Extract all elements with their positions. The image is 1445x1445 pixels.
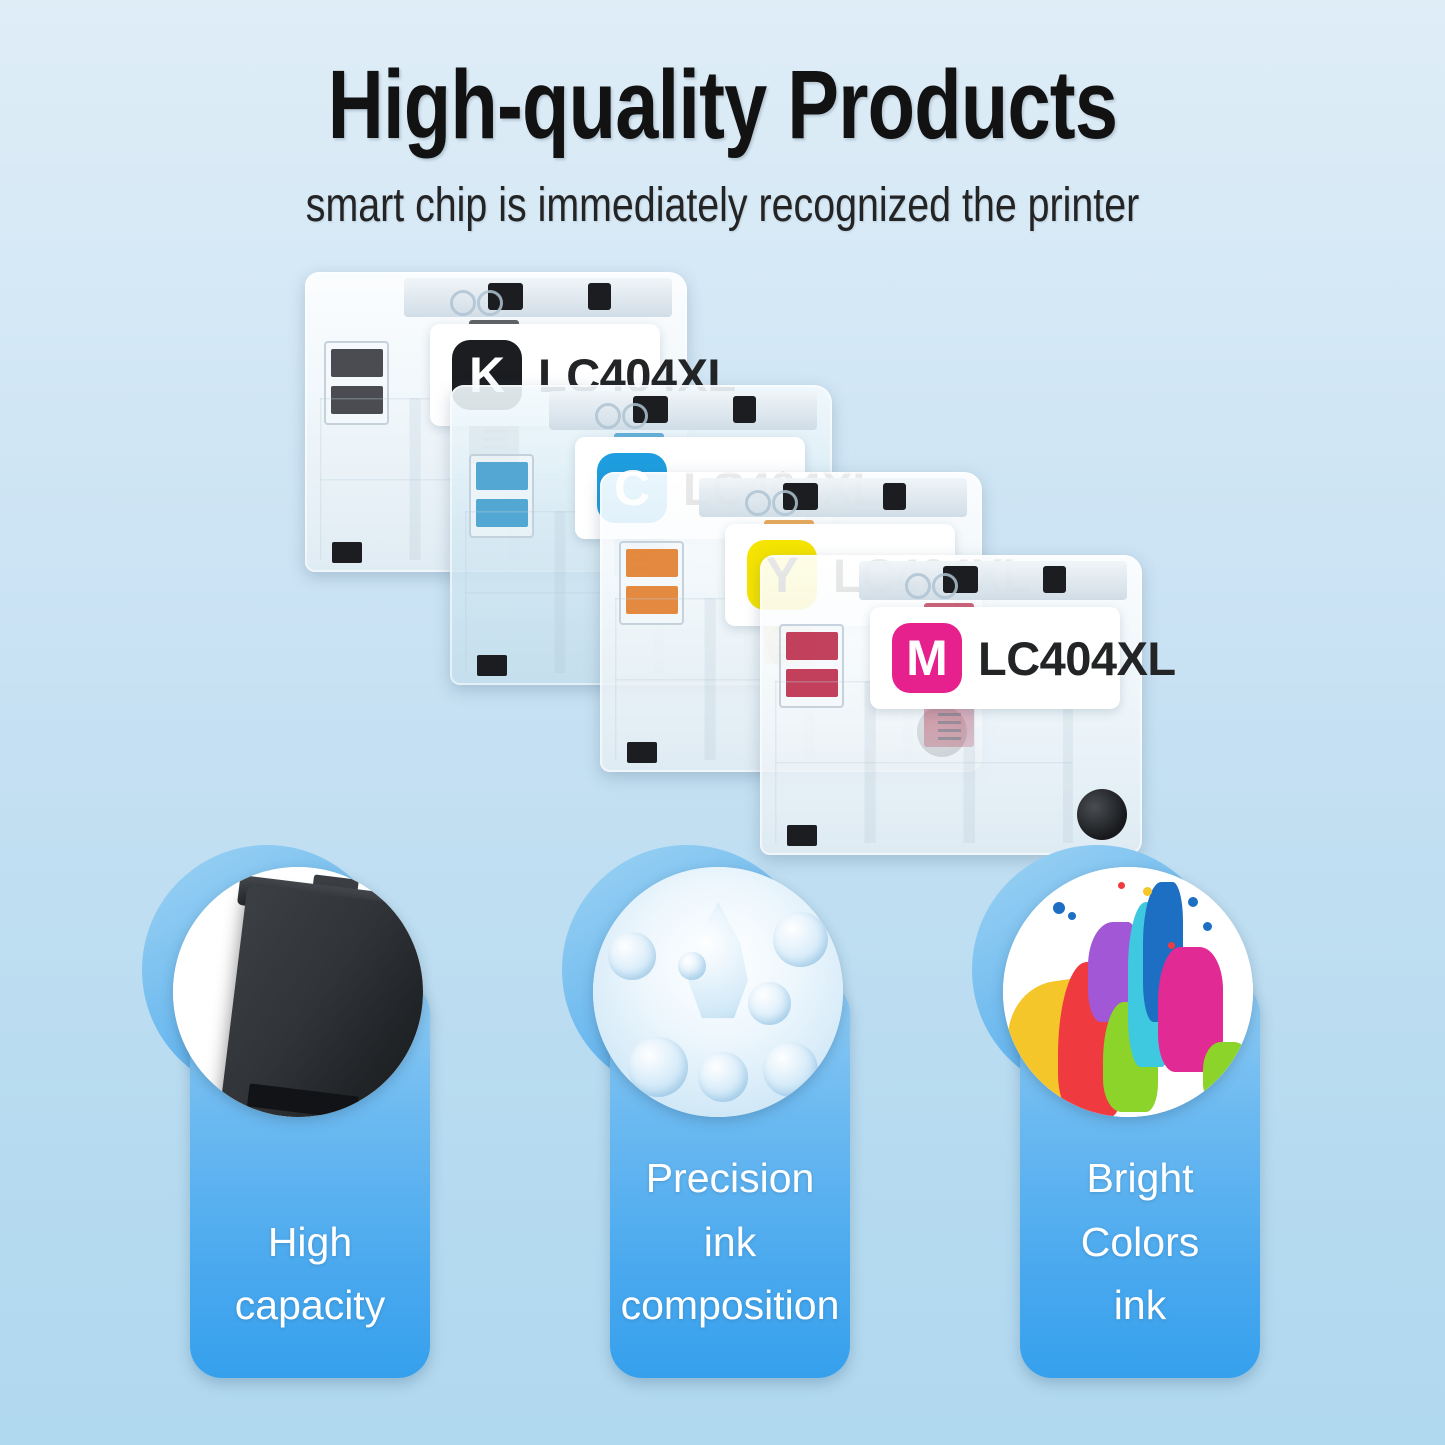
- feature-line: ink: [610, 1211, 850, 1275]
- cartridge-port: [932, 573, 958, 599]
- black-cartridge-photo-icon: [173, 867, 423, 1117]
- cartridge-port: [477, 290, 503, 316]
- cartridge-port: [745, 490, 771, 516]
- cartridge-port: [772, 490, 798, 516]
- cartridge-foot: [787, 825, 818, 846]
- cartridge-rail: [404, 278, 671, 317]
- feature-text: High capacity: [190, 1211, 430, 1338]
- cartridge-rail: [859, 561, 1126, 600]
- cartridge-magenta: M LC404XL: [760, 555, 1142, 855]
- paint-splash-photo-icon: [1003, 867, 1253, 1117]
- cartridge-foot: [627, 742, 658, 763]
- cartridge-port: [450, 290, 476, 316]
- page-subtitle: smart chip is immediately recognized the…: [130, 153, 1315, 230]
- feature-line: ink: [1020, 1274, 1260, 1338]
- cartridge-nub: [733, 396, 756, 423]
- cartridge-nub: [883, 483, 906, 510]
- color-badge-m: M: [892, 623, 962, 693]
- cartridge-nub: [1043, 566, 1066, 593]
- feature-text: Bright Colors ink: [1020, 1147, 1260, 1338]
- cartridge-port: [622, 403, 648, 429]
- feature-line: High: [190, 1211, 430, 1275]
- cartridge-showcase: K LC404XL C LC404XL: [0, 250, 1445, 810]
- cartridge-label-magenta: M LC404XL: [870, 607, 1120, 709]
- water-droplet-photo-icon: [593, 867, 843, 1117]
- cartridge-nub: [588, 283, 611, 310]
- feature-text: Precision ink composition: [610, 1147, 850, 1338]
- page-title: High-quality Products: [145, 0, 1301, 153]
- hero-header: High-quality Products smart chip is imme…: [0, 0, 1445, 230]
- feature-line: Precision: [610, 1147, 850, 1211]
- cartridge-code: LC404XL: [978, 631, 1176, 686]
- cartridge-rail: [699, 478, 966, 517]
- feature-line: Colors: [1020, 1211, 1260, 1275]
- feature-line: capacity: [190, 1274, 430, 1338]
- cartridge-rail: [549, 391, 816, 430]
- feature-line: composition: [610, 1274, 850, 1338]
- ink-outlet: [1077, 789, 1127, 840]
- cartridge-foot: [477, 655, 508, 676]
- cartridge-foot: [332, 542, 363, 563]
- feature-cards: High capacity Precision ink composition: [0, 845, 1445, 1445]
- feature-line: Bright: [1020, 1147, 1260, 1211]
- cartridge-port: [595, 403, 621, 429]
- cartridge-port: [905, 573, 931, 599]
